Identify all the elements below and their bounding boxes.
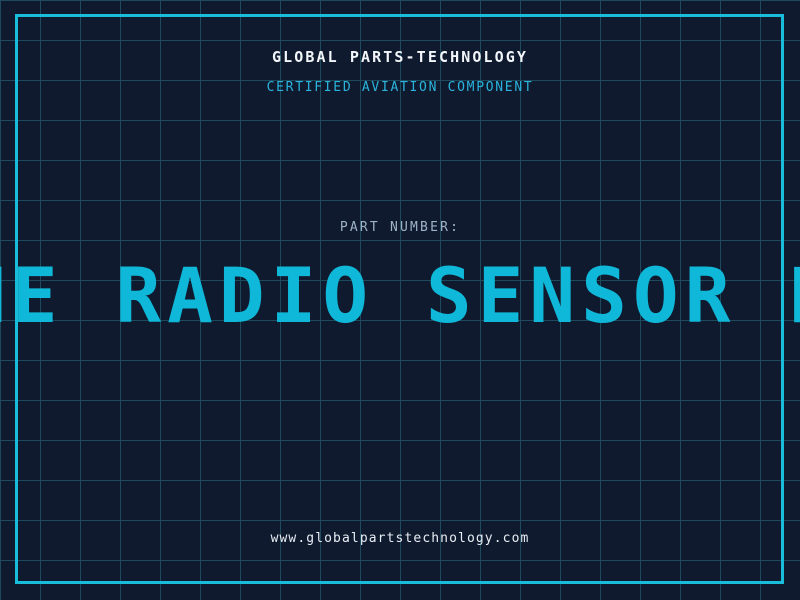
part-name-banner: DRONE RADIO SENSOR PART (0, 258, 800, 338)
part-name-text: DRONE RADIO SENSOR PART (0, 258, 800, 334)
website-url: www.globalpartstechnology.com (0, 531, 800, 546)
certification-subtitle: CERTIFIED AVIATION COMPONENT (0, 80, 800, 95)
blueprint-part-card: GLOBAL PARTS-TECHNOLOGY CERTIFIED AVIATI… (0, 0, 800, 600)
part-number-label: PART NUMBER: (0, 220, 800, 235)
company-title: GLOBAL PARTS-TECHNOLOGY (0, 48, 800, 66)
